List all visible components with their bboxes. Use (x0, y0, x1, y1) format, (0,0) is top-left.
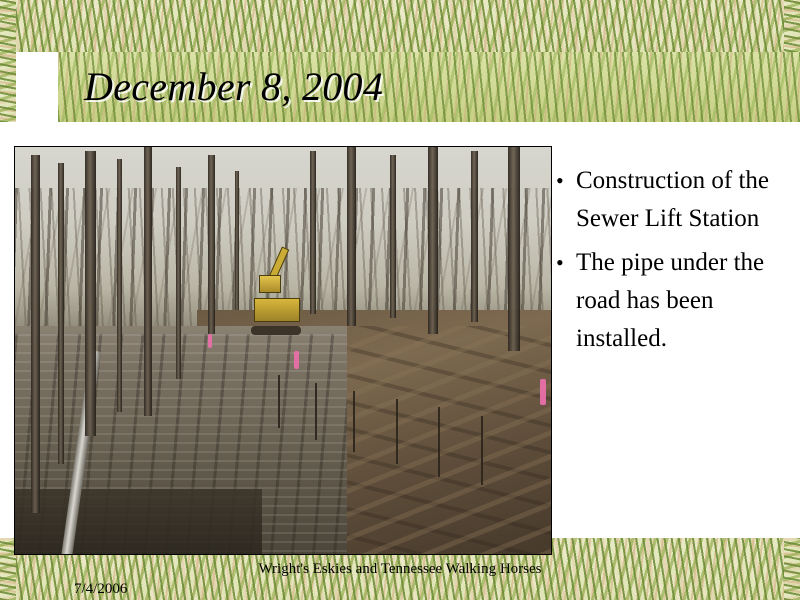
bullet-point-icon: • (556, 244, 576, 282)
photo-fence-stake (278, 375, 280, 428)
photo-foreground-bank (15, 489, 262, 554)
photo-tree-trunk (85, 151, 96, 436)
list-item: • Construction of the Sewer Lift Station (556, 162, 790, 238)
photo-tree-trunk (235, 171, 239, 309)
photo-tree-trunk (347, 147, 356, 326)
photo-fence-stake (353, 391, 355, 452)
grass-border-top-decoration (0, 0, 800, 52)
footer-title: Wright's Eskies and Tennessee Walking Ho… (0, 561, 800, 578)
photo-tree-trunk (471, 151, 478, 322)
page-title: December 8, 2004 (84, 58, 383, 116)
photo-tree-trunk (428, 147, 438, 334)
bullet-list: • Construction of the Sewer Lift Station… (556, 162, 790, 364)
construction-site-photo (14, 146, 552, 555)
slide: December 8, 2004 (0, 0, 800, 600)
photo-survey-ribbon (208, 334, 212, 348)
photo-survey-ribbon (540, 379, 546, 405)
photo-fence-stake (396, 399, 398, 464)
photo-content (15, 147, 551, 554)
photo-tree-trunk (144, 147, 152, 416)
bullet-text: Construction of the Sewer Lift Station (576, 162, 790, 238)
photo-excavator-body (254, 298, 300, 322)
photo-tree-trunk (58, 163, 64, 464)
photo-tree-trunk (176, 167, 181, 379)
footer-date: 7/4/2006 (74, 581, 127, 598)
bullet-text: The pipe under the road has been install… (576, 244, 790, 358)
photo-excavator-cab (259, 275, 281, 293)
photo-tree-trunk (117, 159, 122, 411)
photo-tree-trunk (310, 151, 316, 314)
photo-tree-trunk (31, 155, 40, 513)
bullet-point-icon: • (556, 162, 576, 200)
title-banner: December 8, 2004 (58, 52, 800, 122)
photo-fence-stake (315, 383, 317, 440)
list-item: • The pipe under the road has been insta… (556, 244, 790, 358)
photo-excavator-track (251, 326, 301, 335)
photo-tree-trunk (390, 155, 396, 318)
photo-survey-ribbon (294, 351, 299, 369)
photo-tree-trunk (508, 147, 520, 351)
photo-fence-stake (481, 416, 483, 485)
photo-fence-stake (438, 407, 440, 476)
photo-tree-trunk (208, 155, 215, 334)
